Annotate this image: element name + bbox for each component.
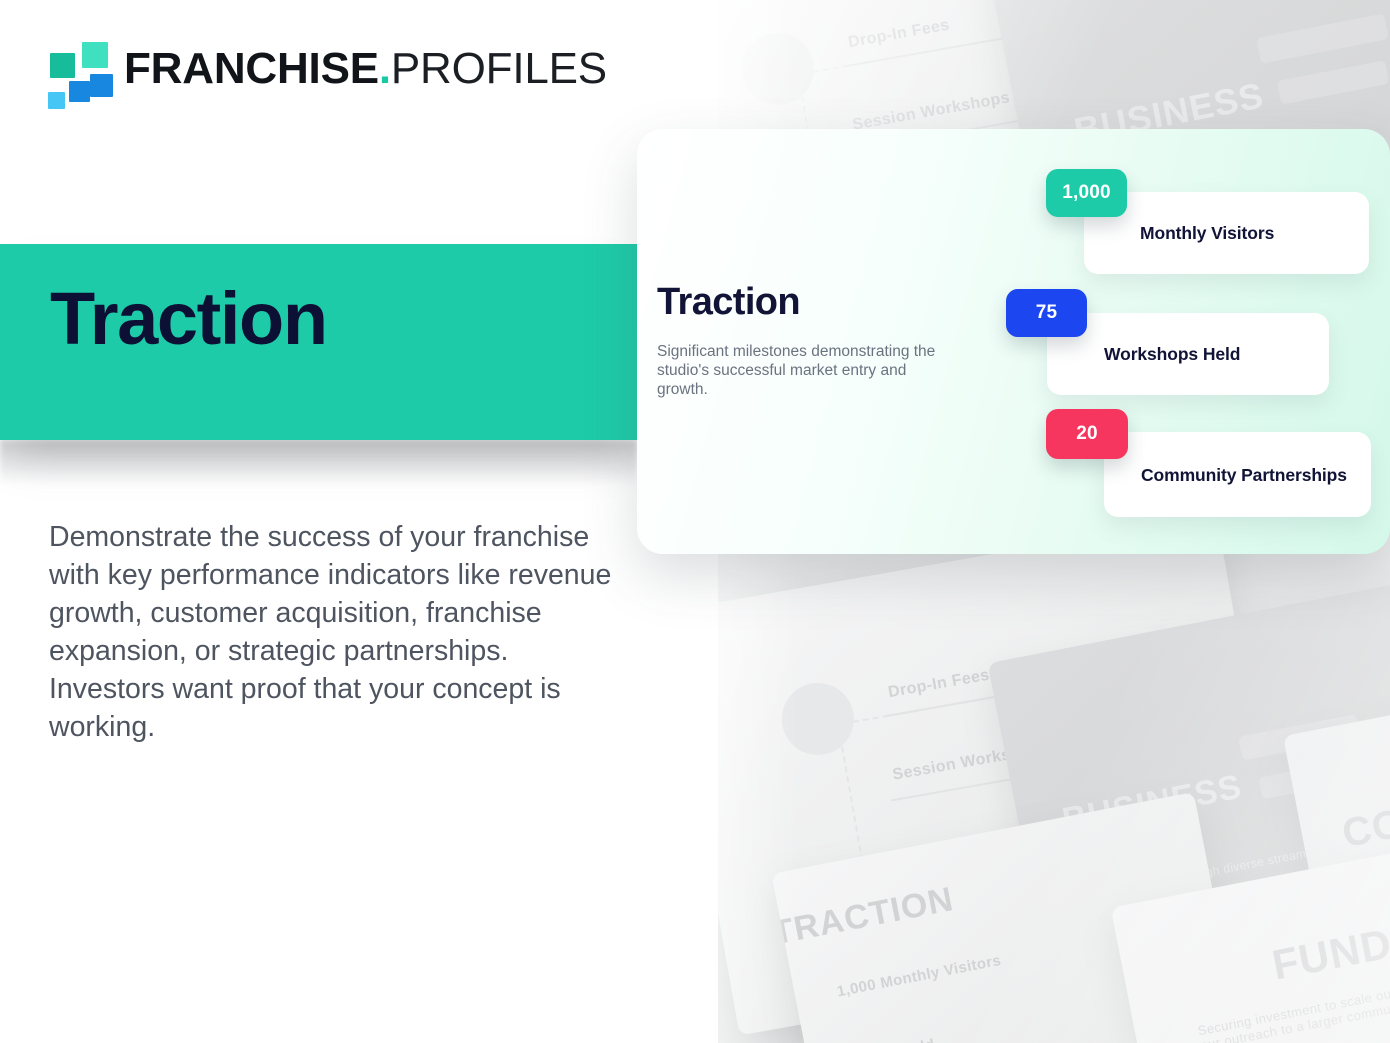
page-title: Traction (50, 282, 327, 356)
metric-badge: 75 (1006, 289, 1087, 337)
card-subtitle: Significant milestones demonstrating the… (657, 342, 957, 399)
banner-drop-shadow (0, 440, 637, 486)
metric-plate: Community Partnerships (1104, 432, 1371, 517)
card-title: Traction (657, 283, 977, 321)
logo-word-profiles: PROFILES (391, 44, 607, 93)
card-text-block: Traction Significant milestones demonstr… (657, 283, 977, 399)
logo-square-2 (50, 53, 75, 78)
logo-square-3 (90, 74, 113, 97)
metric-label: Workshops Held (1104, 343, 1240, 365)
logo-wordmark: FRANCHISE.PROFILES (124, 47, 607, 91)
logo-word-dot: . (379, 44, 391, 93)
brand-logo[interactable]: FRANCHISE.PROFILES (46, 40, 607, 98)
slide-canvas: Drop-In Fees Session Workshops Commissio… (0, 0, 1390, 1043)
logo-square-1 (82, 42, 108, 68)
logo-square-5 (48, 92, 65, 109)
logo-squares-icon (46, 40, 108, 98)
metric-label: Monthly Visitors (1140, 222, 1274, 244)
section-banner: Traction (0, 244, 637, 440)
metric-badge: 1,000 (1046, 169, 1127, 217)
metric-badge: 20 (1046, 409, 1128, 459)
traction-preview-card[interactable]: Traction Significant milestones demonstr… (637, 129, 1390, 554)
body-paragraph: Demonstrate the success of your franchis… (49, 518, 629, 746)
metric-label: Community Partnerships (1141, 464, 1347, 486)
logo-word-franchise: FRANCHISE (124, 44, 379, 93)
metric-plate: Workshops Held (1047, 313, 1329, 395)
logo-square-4 (69, 81, 90, 102)
